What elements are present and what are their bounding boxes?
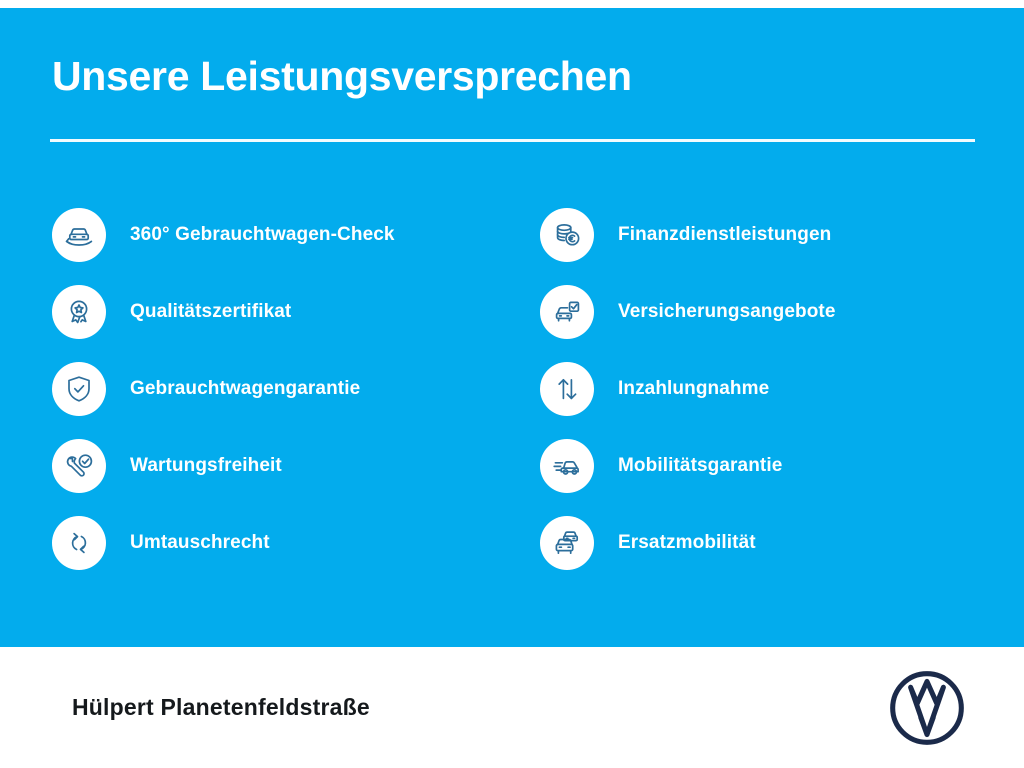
promise-item-replacement-mobility[interactable]: Ersatzmobilität xyxy=(540,504,1024,581)
promise-label: Inzahlungnahme xyxy=(618,378,769,400)
promise-item-mobility-guarantee[interactable]: Mobilitätsgarantie xyxy=(540,427,1024,504)
title-divider xyxy=(50,139,975,142)
promise-item-360-check[interactable]: 360° Gebrauchtwagen-Check xyxy=(52,196,520,273)
promise-label: Umtauschrecht xyxy=(130,532,270,554)
promise-item-quality-certificate[interactable]: Qualitätszertifikat xyxy=(52,273,520,350)
promise-label: Gebrauchtwagengarantie xyxy=(130,378,360,400)
two-cars-icon xyxy=(540,516,594,570)
promise-poster: Unsere Leistungsversprechen 36 xyxy=(0,0,1024,768)
promise-column-right: Finanzdienstleistungen Versicheru xyxy=(520,196,1024,581)
promise-item-exchange-right[interactable]: Umtauschrecht xyxy=(52,504,520,581)
promise-item-warranty[interactable]: Gebrauchtwagengarantie xyxy=(52,350,520,427)
page-title: Unsere Leistungsversprechen xyxy=(52,54,632,99)
footer-bar: Hülpert Planetenfeldstraße xyxy=(0,647,1024,768)
quality-seal-rosette-icon xyxy=(52,285,106,339)
promise-label: Mobilitätsgarantie xyxy=(618,455,782,477)
promise-item-maintenance-free[interactable]: Wartungsfreiheit xyxy=(52,427,520,504)
promise-label: 360° Gebrauchtwagen-Check xyxy=(130,224,395,246)
wrench-check-icon xyxy=(52,439,106,493)
promise-label: Finanzdienstleistungen xyxy=(618,224,831,246)
shield-check-icon xyxy=(52,362,106,416)
promise-column-left: 360° Gebrauchtwagen-Check Qualitätszerti… xyxy=(0,196,520,581)
arrows-up-down-icon xyxy=(540,362,594,416)
promise-item-trade-in[interactable]: Inzahlungnahme xyxy=(540,350,1024,427)
car-360-check-icon xyxy=(52,208,106,262)
promise-item-insurance-offers[interactable]: Versicherungsangebote xyxy=(540,273,1024,350)
car-checkbox-icon xyxy=(540,285,594,339)
blue-panel: Unsere Leistungsversprechen 36 xyxy=(0,8,1024,647)
promise-label: Wartungsfreiheit xyxy=(130,455,282,477)
dealer-name: Hülpert Planetenfeldstraße xyxy=(72,694,370,721)
promise-columns: 360° Gebrauchtwagen-Check Qualitätszerti… xyxy=(0,196,1024,581)
car-speed-lines-icon xyxy=(540,439,594,493)
exchange-arrows-icon xyxy=(52,516,106,570)
promise-label: Ersatzmobilität xyxy=(618,532,756,554)
promise-label: Versicherungsangebote xyxy=(618,301,836,323)
coins-euro-icon xyxy=(540,208,594,262)
promise-label: Qualitätszertifikat xyxy=(130,301,291,323)
promise-item-financial-services[interactable]: Finanzdienstleistungen xyxy=(540,196,1024,273)
volkswagen-logo xyxy=(888,669,966,747)
